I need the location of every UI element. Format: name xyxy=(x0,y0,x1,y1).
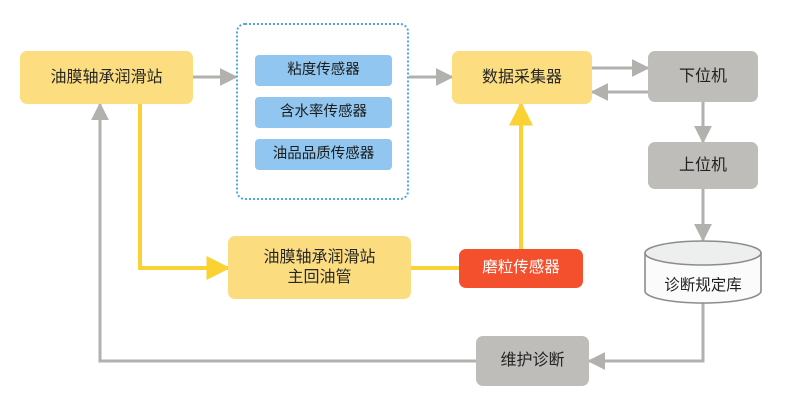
edge-database-to-maintenance xyxy=(589,303,703,361)
node-upper-computer[interactable]: 上位机 xyxy=(648,142,758,189)
node-diagnostic-database[interactable]: 诊断规定库 xyxy=(643,240,763,304)
node-oil-quality-sensor[interactable]: 油品品质传感器 xyxy=(255,139,392,170)
node-lubrication-station[interactable]: 油膜轴承润滑站 xyxy=(20,51,193,104)
diagram-canvas: 油膜轴承润滑站 粘度传感器 含水率传感器 油品品质传感器 数据采集器 下位机 上… xyxy=(0,0,800,409)
node-moisture-sensor[interactable]: 含水率传感器 xyxy=(255,97,392,128)
database-label: 诊断规定库 xyxy=(643,273,763,295)
node-maintenance-diagnosis[interactable]: 维护诊断 xyxy=(476,336,589,386)
node-viscosity-sensor[interactable]: 粘度传感器 xyxy=(255,55,392,86)
node-return-oil-pipe[interactable]: 油膜轴承润滑站 主回油管 xyxy=(228,236,411,299)
edge-station-to-pipe xyxy=(140,104,228,268)
node-particle-sensor[interactable]: 磨粒传感器 xyxy=(459,249,583,288)
node-lower-computer[interactable]: 下位机 xyxy=(648,51,758,102)
node-data-collector[interactable]: 数据采集器 xyxy=(452,51,592,104)
